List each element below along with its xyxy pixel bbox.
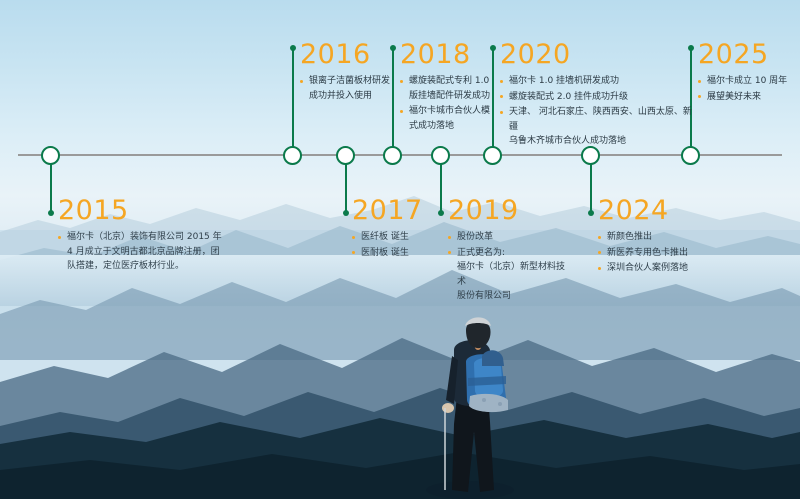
stem-2024 [590, 163, 592, 213]
milestone-item: 股份改革 [448, 230, 568, 245]
stem-2018 [392, 48, 394, 148]
timeline-node-2015[interactable] [41, 146, 60, 165]
stem-cap-2016 [290, 45, 296, 51]
milestone-items-2018: 螺旋装配式专利 1.0 版挂墙配件研发成功 福尔卡城市合伙人模 式成功落地 [400, 74, 496, 133]
milestone-year-2019: 2019 [448, 196, 568, 226]
milestone-item: 新医养专用色卡推出 [598, 246, 728, 261]
milestone-items-2024: 新颜色推出 新医养专用色卡推出 深圳合伙人案例落地 [598, 230, 728, 276]
timeline-node-2018[interactable] [383, 146, 402, 165]
milestone-item: 福尔卡 1.0 挂墙机研发成功 [500, 74, 700, 89]
milestone-2024[interactable]: 2024 新颜色推出 新医养专用色卡推出 深圳合伙人案例落地 [598, 196, 728, 277]
timeline-infographic: 2015 福尔卡（北京）装饰有限公司 2015 年 4 月成立于文明古都北京品牌… [0, 0, 800, 499]
milestone-items-2019: 股份改革 正式更名为: 福尔卡（北京）新型材料技术 股份有限公司 [448, 230, 568, 304]
milestone-item: 螺旋装配式专利 1.0 版挂墙配件研发成功 [400, 74, 496, 103]
milestone-year-2016: 2016 [300, 40, 392, 70]
stem-cap-2024 [588, 210, 594, 216]
milestone-item: 展望美好未来 [698, 90, 798, 105]
milestone-items-2020: 福尔卡 1.0 挂墙机研发成功 螺旋装配式 2.0 挂件成功升级 天津、 河北石… [500, 74, 700, 149]
milestone-item: 新颜色推出 [598, 230, 728, 245]
milestone-2019[interactable]: 2019 股份改革 正式更名为: 福尔卡（北京）新型材料技术 股份有限公司 [448, 196, 568, 305]
stem-2017 [345, 163, 347, 213]
ridge-foreground [0, 404, 800, 499]
milestone-item: 正式更名为: 福尔卡（北京）新型材料技术 股份有限公司 [448, 246, 568, 304]
timeline-node-2019[interactable] [431, 146, 450, 165]
milestone-items-2015: 福尔卡（北京）装饰有限公司 2015 年 4 月成立于文明古都北京品牌注册，团 … [58, 230, 243, 274]
milestone-item: 银离子洁菌板材研发 成功并投入使用 [300, 74, 392, 103]
milestone-year-2024: 2024 [598, 196, 728, 226]
stem-cap-2017 [343, 210, 349, 216]
milestone-2020[interactable]: 2020 福尔卡 1.0 挂墙机研发成功 螺旋装配式 2.0 挂件成功升级 天津… [500, 40, 700, 150]
milestone-2016[interactable]: 2016 银离子洁菌板材研发 成功并投入使用 [300, 40, 392, 104]
milestone-item: 福尔卡城市合伙人模 式成功落地 [400, 104, 496, 133]
hiker-figure [424, 304, 544, 499]
milestone-item: 深圳合伙人案例落地 [598, 261, 728, 276]
milestone-items-2025: 福尔卡成立 10 周年 展望美好未来 [698, 74, 798, 104]
milestone-2025[interactable]: 2025 福尔卡成立 10 周年 展望美好未来 [698, 40, 798, 105]
stem-2015 [50, 163, 52, 213]
milestone-item: 福尔卡（北京）装饰有限公司 2015 年 4 月成立于文明古都北京品牌注册，团 … [58, 230, 243, 274]
milestone-item: 医纤板 诞生 [352, 230, 442, 245]
stem-2016 [292, 48, 294, 148]
stem-cap-2015 [48, 210, 54, 216]
milestone-item: 螺旋装配式 2.0 挂件成功升级 [500, 90, 700, 105]
timeline-node-2016[interactable] [283, 146, 302, 165]
milestone-item: 天津、 河北石家庄、陕西西安、山西太原、新疆 乌鲁木齐城市合伙人成功落地 [500, 105, 700, 149]
milestone-2018[interactable]: 2018 螺旋装配式专利 1.0 版挂墙配件研发成功 福尔卡城市合伙人模 式成功… [400, 40, 496, 134]
timeline-node-2017[interactable] [336, 146, 355, 165]
milestone-year-2015: 2015 [58, 196, 243, 226]
milestone-year-2017: 2017 [352, 196, 442, 226]
milestone-2017[interactable]: 2017 医纤板 诞生 医耐板 诞生 [352, 196, 442, 261]
milestone-year-2025: 2025 [698, 40, 798, 70]
milestone-year-2018: 2018 [400, 40, 496, 70]
milestone-2015[interactable]: 2015 福尔卡（北京）装饰有限公司 2015 年 4 月成立于文明古都北京品牌… [58, 196, 243, 275]
milestone-items-2017: 医纤板 诞生 医耐板 诞生 [352, 230, 442, 260]
milestone-item: 福尔卡成立 10 周年 [698, 74, 798, 89]
milestone-year-2020: 2020 [500, 40, 700, 70]
milestone-items-2016: 银离子洁菌板材研发 成功并投入使用 [300, 74, 392, 103]
milestone-item: 医耐板 诞生 [352, 246, 442, 261]
